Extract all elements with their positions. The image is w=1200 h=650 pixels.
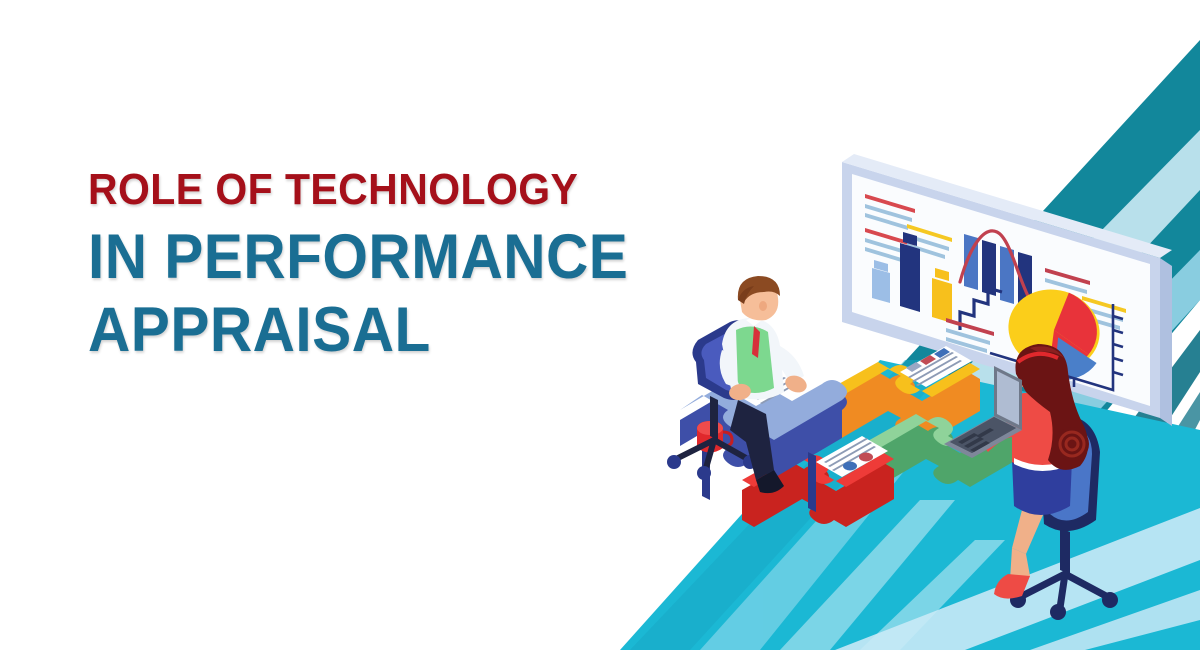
illustration-svg — [560, 0, 1200, 650]
illustration-group — [560, 0, 1200, 650]
banner-canvas: ROLE OF TECHNOLOGY IN PERFORMANCE APPRAI… — [0, 0, 1200, 650]
